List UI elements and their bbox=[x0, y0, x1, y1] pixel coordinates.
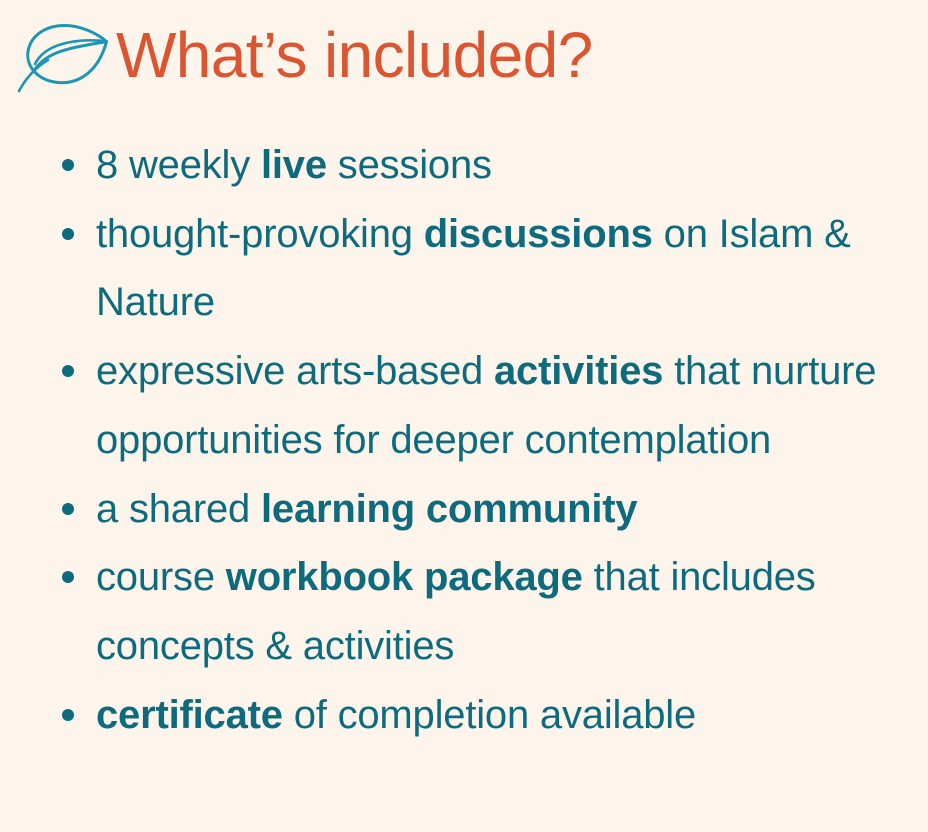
list-item: course workbook package that includes co… bbox=[0, 543, 928, 680]
included-features-list: 8 weekly live sessions thought-provoking… bbox=[0, 131, 928, 749]
list-item: 8 weekly live sessions bbox=[0, 131, 928, 200]
list-item-text: a shared learning community bbox=[96, 487, 637, 531]
bullet-dot-icon bbox=[62, 365, 74, 377]
bullet-dot-icon bbox=[62, 228, 74, 240]
leaf-icon bbox=[8, 12, 116, 96]
bullet-dot-icon bbox=[62, 709, 74, 721]
list-item: a shared learning community bbox=[0, 475, 928, 544]
list-item-text: thought-provoking discussions on Islam &… bbox=[96, 212, 851, 325]
slide-canvas: What’s included? 8 weekly live sessions … bbox=[0, 0, 928, 832]
list-item: thought-provoking discussions on Islam &… bbox=[0, 200, 928, 337]
list-item-text: certificate of completion available bbox=[96, 693, 696, 737]
list-item: expressive arts-based activities that nu… bbox=[0, 337, 928, 474]
list-item-text: course workbook package that includes co… bbox=[96, 555, 816, 668]
bullet-dot-icon bbox=[62, 503, 74, 515]
list-item-text: 8 weekly live sessions bbox=[96, 143, 492, 187]
bullet-dot-icon bbox=[62, 571, 74, 583]
page-title: What’s included? bbox=[116, 23, 593, 87]
list-item: certificate of completion available bbox=[0, 681, 928, 750]
page-header: What’s included? bbox=[8, 8, 593, 100]
bullet-dot-icon bbox=[62, 159, 74, 171]
list-item-text: expressive arts-based activities that nu… bbox=[96, 349, 876, 462]
